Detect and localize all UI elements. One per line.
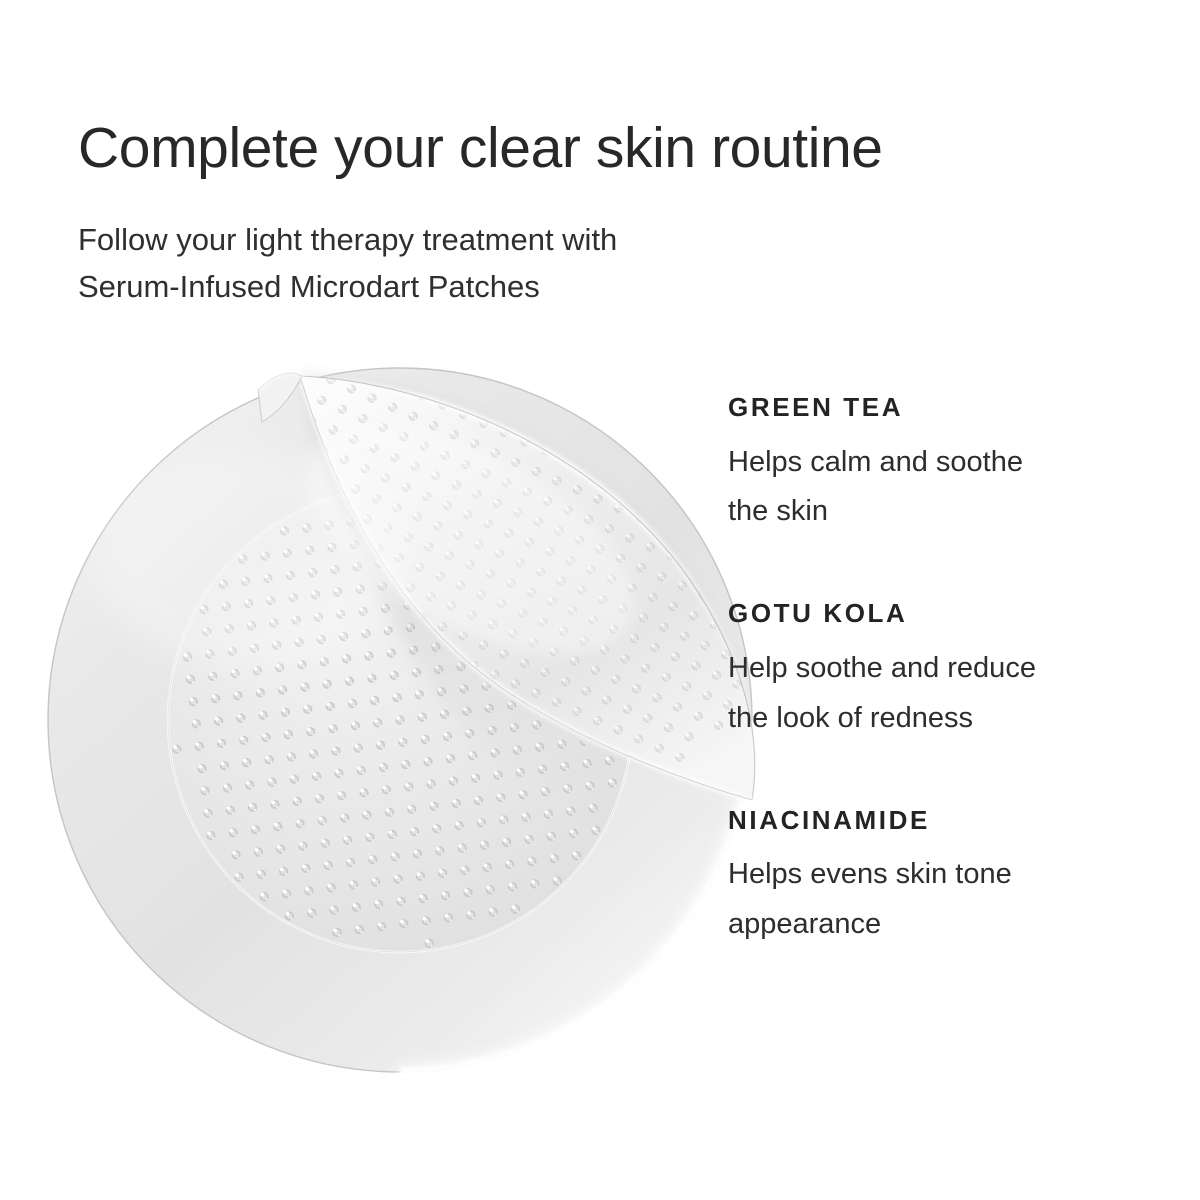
ingredient-description: Helps calm and soothe the skin [728, 438, 1148, 538]
ingredient-item-green-tea: GREEN TEA Helps calm and soothe the skin [728, 393, 1148, 537]
page-subtitle-line-1: Follow your light therapy treatment with [78, 216, 1128, 263]
ingredient-description-line-2: the look of redness [728, 694, 1148, 744]
header-block: Complete your clear skin routine Follow … [78, 118, 1128, 310]
ingredient-name: NIACINAMIDE [728, 806, 1148, 835]
page-title: Complete your clear skin routine [78, 118, 1128, 180]
ingredient-description-line-2: appearance [728, 900, 1148, 950]
page-subtitle: Follow your light therapy treatment with… [78, 180, 1128, 310]
ingredient-list: GREEN TEA Helps calm and soothe the skin… [728, 393, 1148, 950]
microdart-patch-illustration [0, 330, 820, 1130]
page-subtitle-line-2: Serum-Infused Microdart Patches [78, 263, 1128, 310]
ingredient-description-line-1: Helps evens skin tone [728, 850, 1148, 900]
product-image [0, 330, 820, 1130]
ingredient-description: Helps evens skin tone appearance [728, 850, 1148, 950]
ingredient-description: Help soothe and reduce the look of redne… [728, 644, 1148, 744]
ingredient-description-line-1: Help soothe and reduce [728, 644, 1148, 694]
ingredient-item-gotu-kola: GOTU KOLA Help soothe and reduce the loo… [728, 599, 1148, 743]
ingredient-item-niacinamide: NIACINAMIDE Helps evens skin tone appear… [728, 806, 1148, 950]
ingredient-name: GREEN TEA [728, 393, 1148, 422]
ingredient-name: GOTU KOLA [728, 599, 1148, 628]
ingredient-description-line-2: the skin [728, 487, 1148, 537]
product-info-page: Complete your clear skin routine Follow … [0, 0, 1200, 1200]
ingredient-description-line-1: Helps calm and soothe [728, 438, 1148, 488]
patch-top-sheen [100, 450, 400, 670]
